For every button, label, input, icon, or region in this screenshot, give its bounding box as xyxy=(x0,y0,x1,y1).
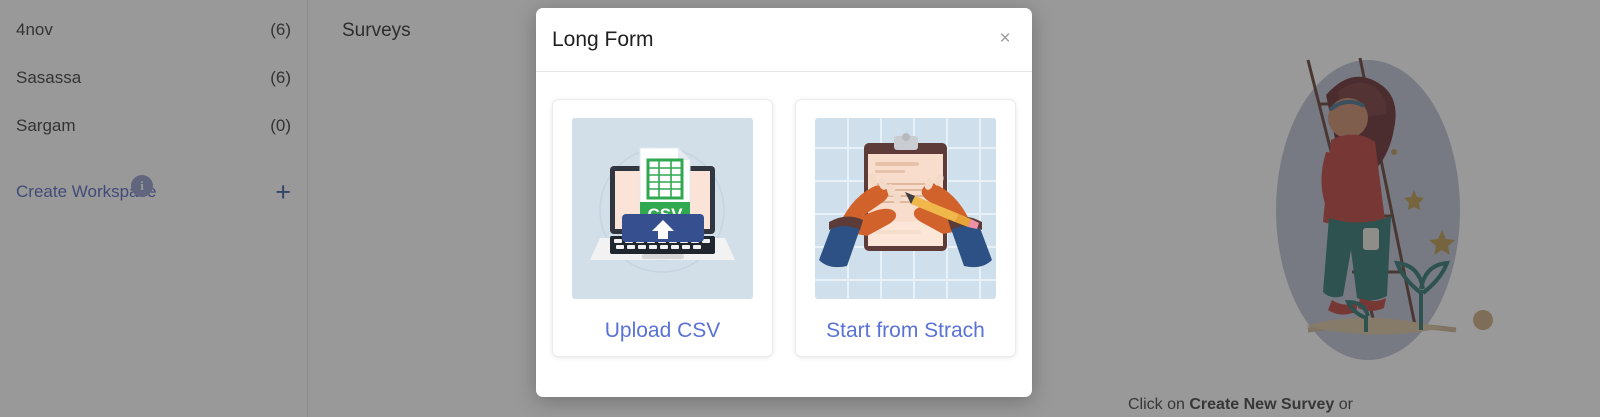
modal-body: CSV Upload CSV xyxy=(536,72,1032,397)
clipboard-writing-illustration xyxy=(815,118,996,299)
start-from-scratch-card[interactable]: Start from Strach xyxy=(795,99,1016,357)
close-icon[interactable]: × xyxy=(992,25,1018,51)
screen: 4nov (6) Sasassa (6) Sargam (0) Create W… xyxy=(0,0,1600,417)
upload-csv-label: Upload CSV xyxy=(605,319,721,343)
csv-upload-illustration: CSV xyxy=(572,118,753,299)
upload-csv-card[interactable]: CSV Upload CSV xyxy=(552,99,773,357)
modal-title: Long Form xyxy=(552,28,654,52)
start-from-scratch-label: Start from Strach xyxy=(826,319,985,343)
long-form-modal: Long Form × xyxy=(536,8,1032,397)
modal-header: Long Form × xyxy=(536,8,1032,72)
